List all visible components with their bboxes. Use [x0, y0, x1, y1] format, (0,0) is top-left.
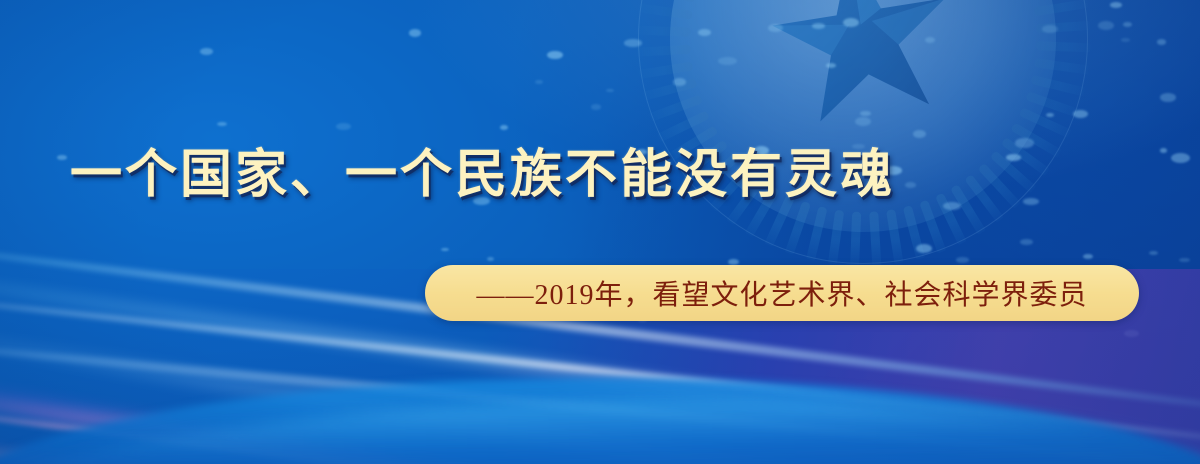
hero-banner: 一个国家、一个民族不能没有灵魂 ——2019年，看望文化艺术界、社会科学界委员 — [0, 0, 1200, 464]
banner-content: 一个国家、一个民族不能没有灵魂 ——2019年，看望文化艺术界、社会科学界委员 — [0, 0, 1200, 464]
subtitle-text: ——2019年，看望文化艺术界、社会科学界委员 — [476, 273, 1087, 313]
banner-headline: 一个国家、一个民族不能没有灵魂 — [70, 146, 895, 206]
subtitle-pill: ——2019年，看望文化艺术界、社会科学界委员 — [425, 265, 1139, 321]
